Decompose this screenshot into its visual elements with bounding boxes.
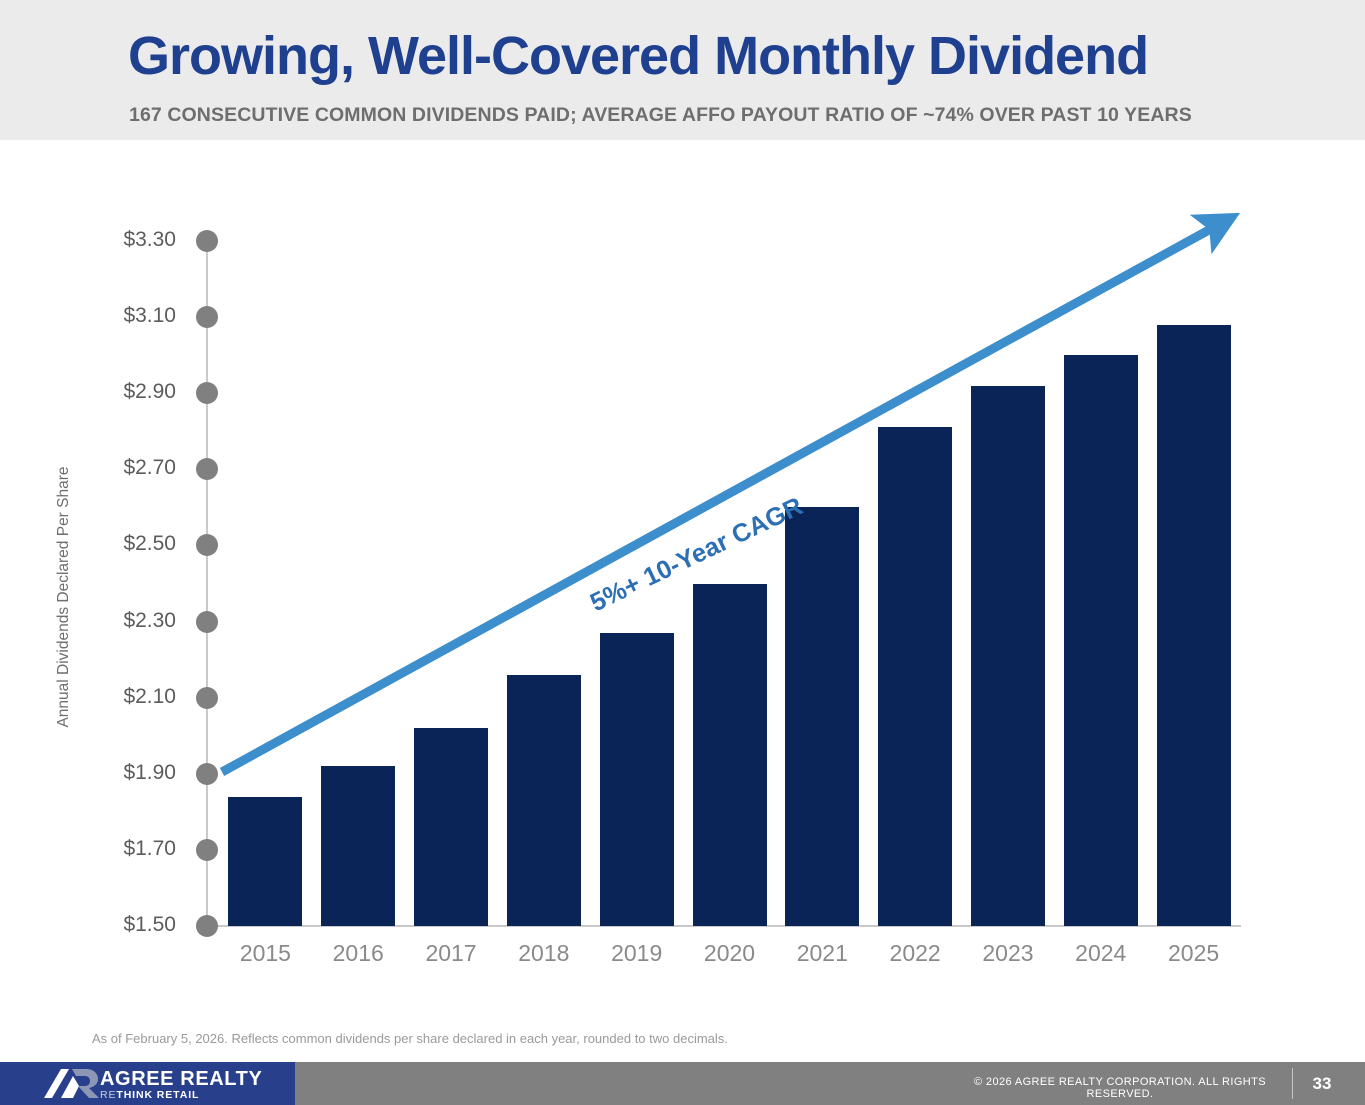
page-title: Growing, Well-Covered Monthly Dividend [128,28,1328,85]
page-subtitle: 167 CONSECUTIVE COMMON DIVIDENDS PAID; A… [129,104,1344,127]
logo-tagline-bold: THINK RETAIL [116,1089,199,1101]
agree-realty-logo-icon [42,1068,108,1099]
slide-footer: AGREE REALTY RETHINK RETAIL © 2026 AGREE… [0,1062,1365,1105]
logo-wordmark: AGREE REALTY RETHINK RETAIL [100,1069,262,1102]
logo-band: AGREE REALTY RETHINK RETAIL [0,1062,295,1105]
page-number: 33 [1300,1074,1344,1094]
logo-tagline-light: RE [100,1089,116,1101]
logo-tagline: RETHINK RETAIL [100,1089,262,1102]
copyright-text: © 2026 AGREE REALTY CORPORATION. ALL RIG… [955,1076,1285,1100]
plot-area: $3.30$3.10$2.90$2.70$2.50$2.30$2.10$1.90… [0,140,1365,1015]
chart-footnote: As of February 5, 2026. Reflects common … [92,1031,728,1046]
logo-company-name: AGREE REALTY [100,1069,262,1089]
footer-divider [1292,1068,1293,1099]
chart-container: Annual Dividends Declared Per Share $3.3… [0,140,1365,1015]
slide-header: Growing, Well-Covered Monthly Dividend 1… [0,0,1365,140]
